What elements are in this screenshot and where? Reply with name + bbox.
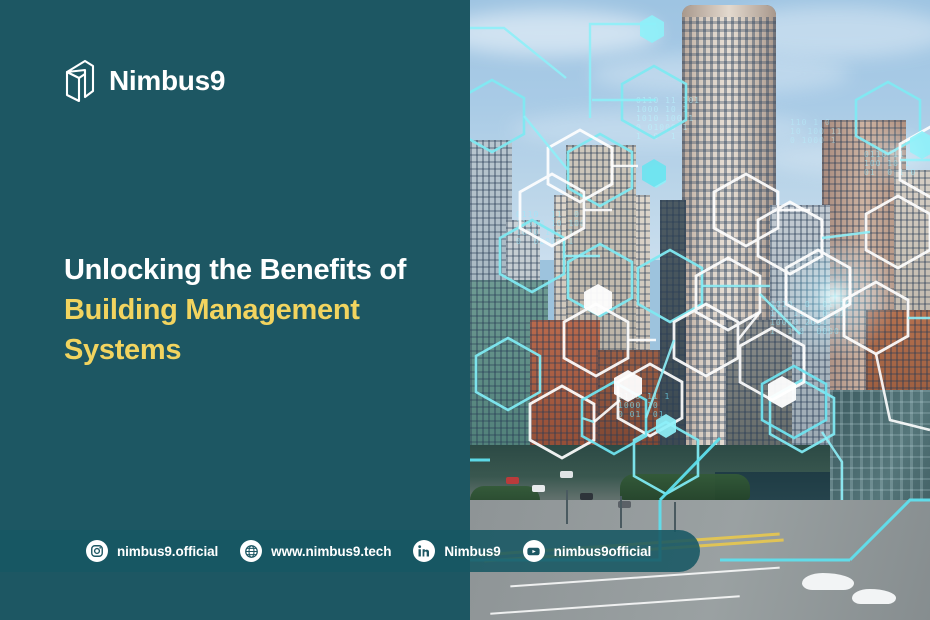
boat xyxy=(852,589,896,604)
brand-logo[interactable]: Nimbus9 xyxy=(64,58,225,104)
social-item-linkedin[interactable]: Nimbus9 xyxy=(413,540,500,562)
instagram-icon xyxy=(86,540,108,562)
headline-line-3: Systems xyxy=(64,330,454,370)
website-globe-icon xyxy=(240,540,262,562)
social-label-youtube: nimbus9official xyxy=(554,544,652,559)
network-glow-flare xyxy=(770,232,900,362)
content-panel: Nimbus9 Unlocking the Benefits of Buildi… xyxy=(0,0,470,620)
headline-line-1: Unlocking the Benefits of xyxy=(64,250,454,290)
social-bar: nimbus9.official www.nimbus9.tech Ni xyxy=(0,530,700,572)
tree-line xyxy=(620,474,750,500)
social-item-instagram[interactable]: nimbus9.official xyxy=(86,540,218,562)
headline-line-2: Building Management xyxy=(64,290,454,330)
youtube-icon xyxy=(523,540,545,562)
car xyxy=(580,493,593,500)
car xyxy=(506,477,519,484)
car xyxy=(560,471,573,478)
network-glow-flare xyxy=(860,120,930,190)
city-skyline-image: 0110 11 0 11000 10 100 1010 100 1 0 0100… xyxy=(470,0,930,620)
street-pole xyxy=(620,496,622,528)
linkedin-icon xyxy=(413,540,435,562)
social-item-youtube[interactable]: nimbus9official xyxy=(523,540,652,562)
building xyxy=(660,200,686,470)
marketing-poster: 0110 11 0 11000 10 100 1010 100 1 0 0100… xyxy=(0,0,930,620)
page-title: Unlocking the Benefits of Building Manag… xyxy=(64,250,454,370)
social-label-website: www.nimbus9.tech xyxy=(271,544,391,559)
social-label-instagram: nimbus9.official xyxy=(117,544,218,559)
car xyxy=(532,485,545,492)
street-pole xyxy=(566,490,568,524)
boat xyxy=(802,573,854,590)
social-label-linkedin: Nimbus9 xyxy=(444,544,500,559)
social-item-website[interactable]: www.nimbus9.tech xyxy=(240,540,391,562)
building-mark-icon xyxy=(64,58,96,104)
brand-name: Nimbus9 xyxy=(109,65,225,97)
street-pole xyxy=(674,502,676,532)
